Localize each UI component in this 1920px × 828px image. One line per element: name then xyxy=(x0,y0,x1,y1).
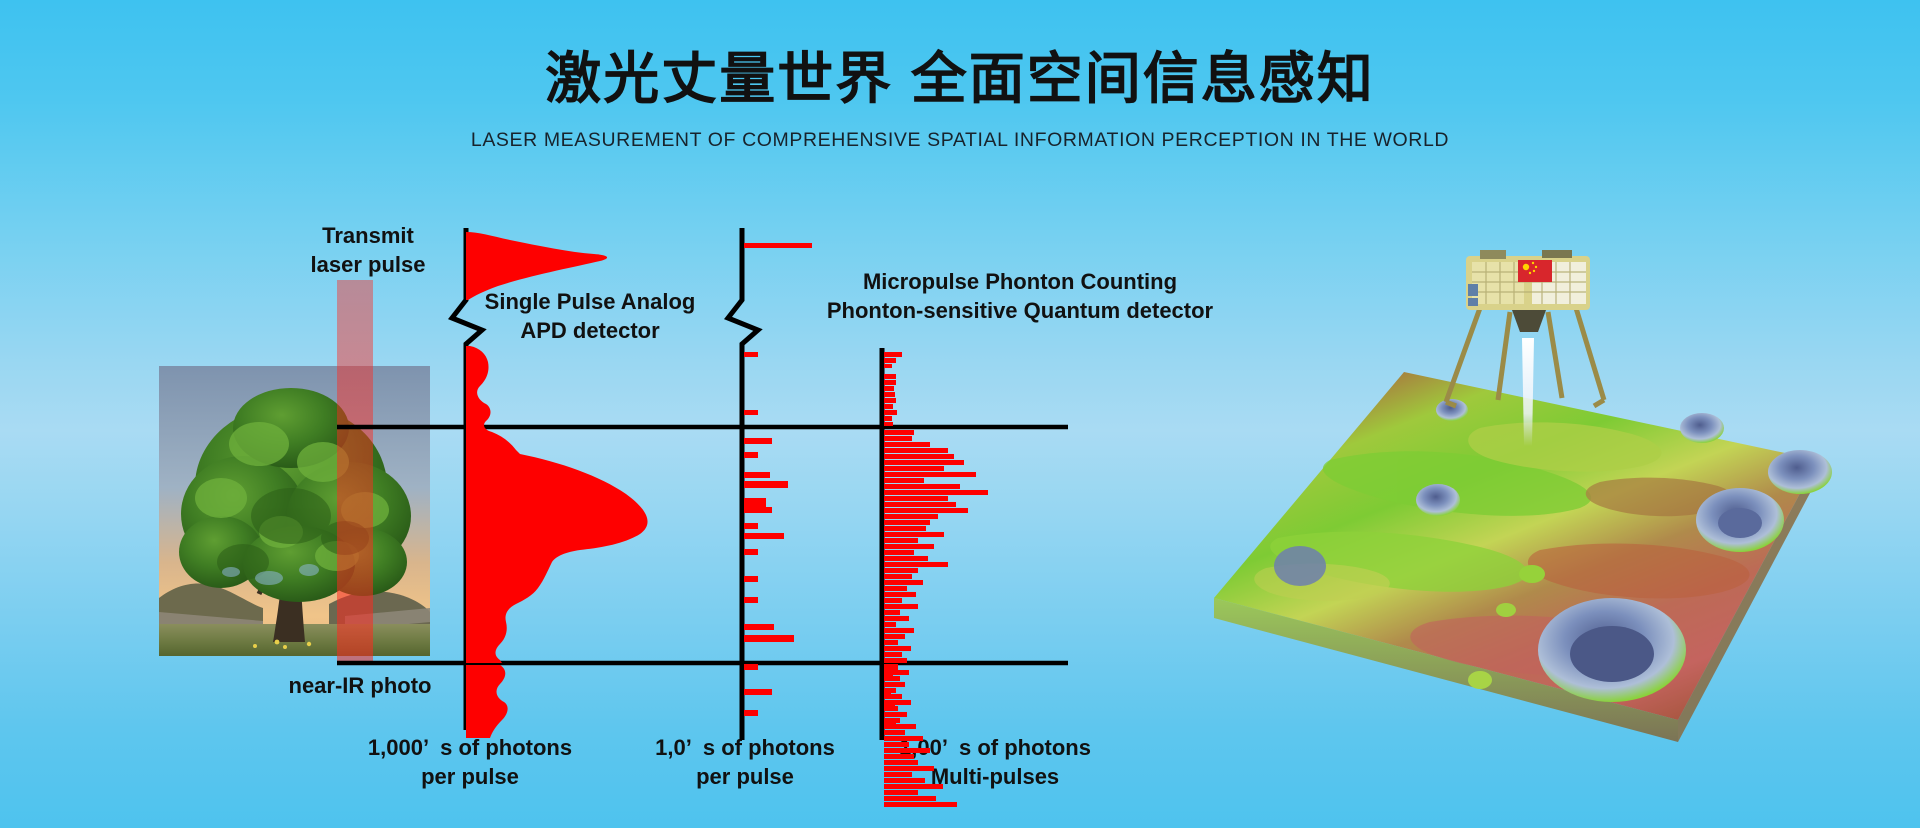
lunar-lander xyxy=(1466,250,1590,332)
sparse-photon-bars xyxy=(744,243,812,716)
waveform-plots-svg xyxy=(0,0,1190,828)
dense-photon-bars xyxy=(884,352,988,807)
lidar-waveform-diagram: Transmit laser pulse near-IR photo Singl… xyxy=(0,0,1190,828)
terrain-svg xyxy=(1180,250,1920,780)
dense-photon-plot xyxy=(882,348,988,807)
analog-subsurface-tail xyxy=(466,665,508,738)
analog-canopy-ground-return xyxy=(466,346,648,663)
lidar-laser-beam xyxy=(1522,338,1534,446)
lidar-dem-terrain-render xyxy=(1180,250,1920,780)
analog-transmit-pulse xyxy=(466,232,607,300)
lander-engine-nozzle xyxy=(1512,310,1546,332)
